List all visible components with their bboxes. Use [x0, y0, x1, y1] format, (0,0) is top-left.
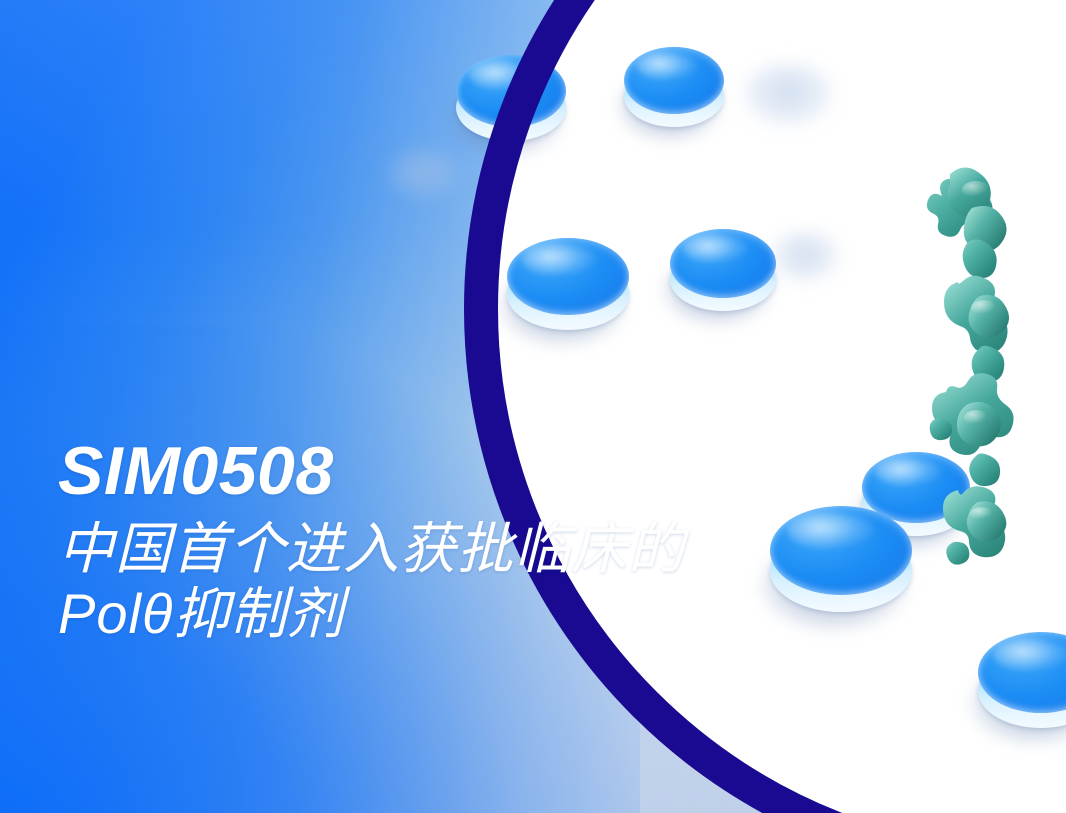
product-code-title: SIM0508	[58, 437, 848, 505]
headline-block: SIM0508 中国首个进入获批临床的 Polθ抑制剂	[58, 437, 848, 647]
poster-canvas: SIM0508 中国首个进入获批临床的 Polθ抑制剂	[0, 0, 1066, 813]
blurred-tablet-ghost	[388, 150, 458, 198]
polymerase-theta-protein-model	[884, 156, 1064, 576]
subtitle-line-1: 中国首个进入获批临床的	[58, 517, 848, 582]
subtitle-line-2: Polθ抑制剂	[58, 582, 848, 647]
